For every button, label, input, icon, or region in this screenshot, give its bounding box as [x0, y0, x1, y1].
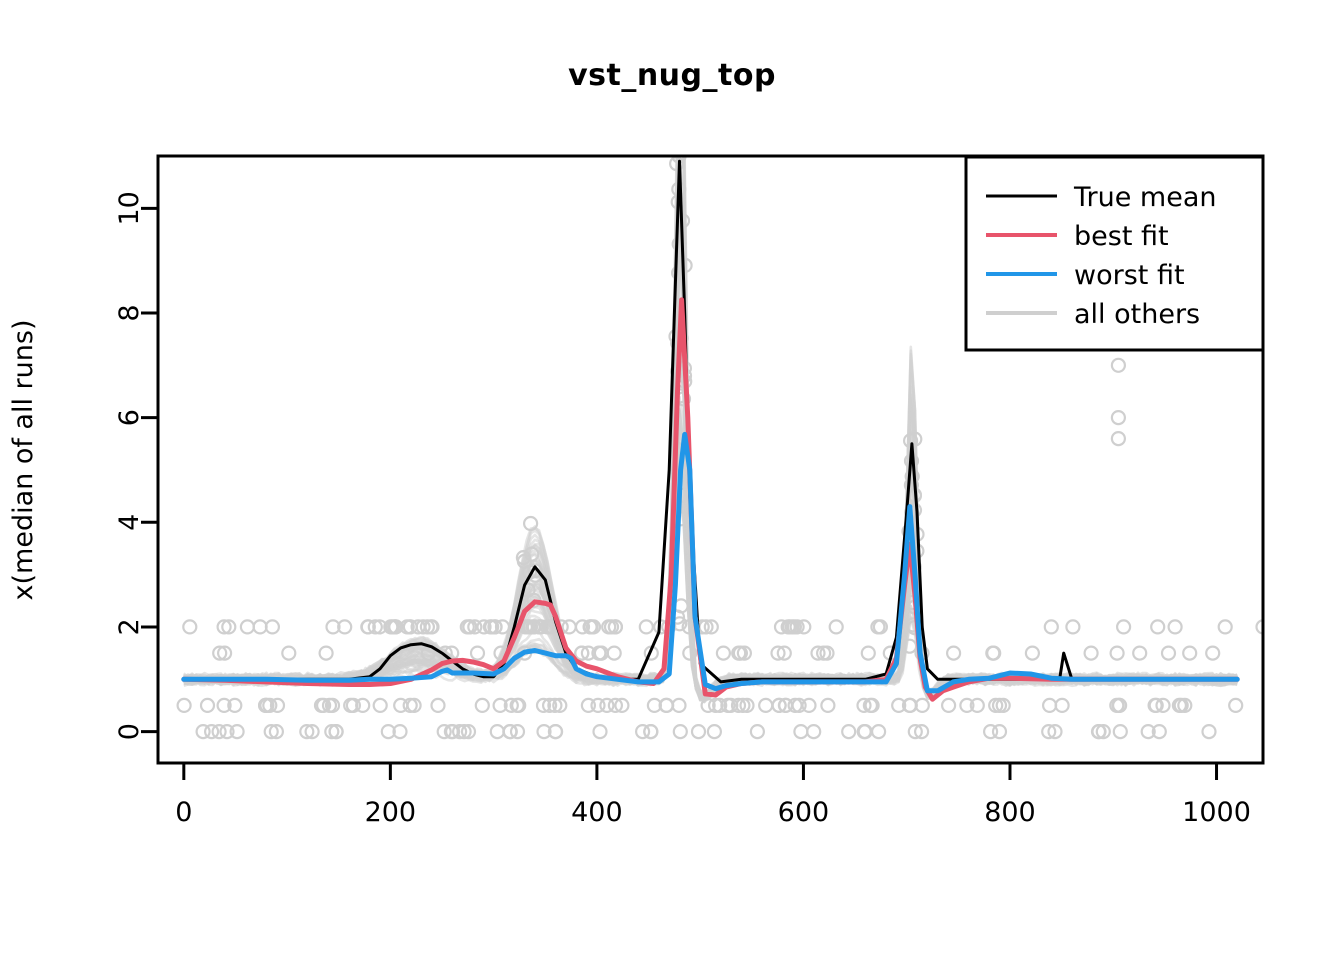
y-tick-label: 6 — [114, 409, 145, 426]
y-tick-label: 0 — [114, 723, 145, 740]
legend-label-worst-fit: worst fit — [1074, 260, 1185, 291]
legend-label-all-others: all others — [1074, 299, 1200, 330]
x-tick-label: 400 — [571, 797, 623, 828]
legend-label-true-mean: True mean — [1073, 182, 1217, 213]
chart-canvas: vst_nug_top 02004006008001000 0246810 x(… — [0, 0, 1344, 960]
y-tick-label: 2 — [114, 618, 145, 635]
x-tick-label: 1000 — [1182, 797, 1251, 828]
x-axis-ticks: 02004006008001000 — [175, 763, 1251, 828]
legend-label-best-fit: best fit — [1074, 221, 1169, 252]
series-best-fit — [184, 300, 1237, 699]
x-tick-label: 800 — [984, 797, 1036, 828]
y-axis-ticks: 0246810 — [114, 191, 158, 740]
legend[interactable]: True meanbest fitworst fitall others — [966, 157, 1263, 350]
x-tick-label: 200 — [365, 797, 417, 828]
x-tick-label: 0 — [175, 797, 192, 828]
plot-area: 02004006008001000 0246810 x(median of al… — [0, 0, 1344, 960]
y-tick-label: 10 — [114, 191, 145, 225]
y-axis-title: x(median of all runs) — [8, 320, 39, 601]
y-tick-label: 4 — [114, 514, 145, 531]
x-tick-label: 600 — [778, 797, 830, 828]
series-worst-fit — [184, 434, 1237, 690]
y-tick-label: 8 — [114, 304, 145, 321]
